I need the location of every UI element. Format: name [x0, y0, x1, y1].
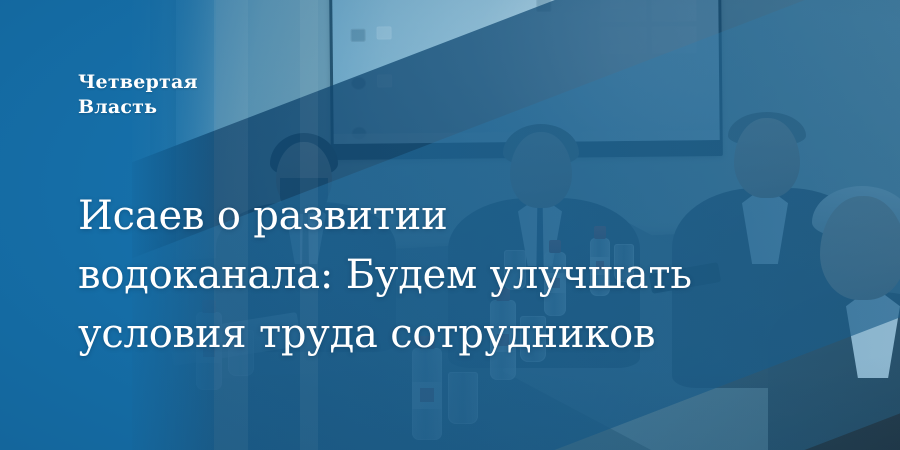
news-cover-card: Четвертая Власть Исаев о развитии водока… — [0, 0, 900, 450]
site-logo[interactable]: Четвертая Власть — [78, 70, 198, 120]
cover-content: Четвертая Власть Исаев о развитии водока… — [0, 0, 900, 450]
article-headline[interactable]: Исаев о развитии водоканала: Будем улучш… — [78, 187, 698, 364]
